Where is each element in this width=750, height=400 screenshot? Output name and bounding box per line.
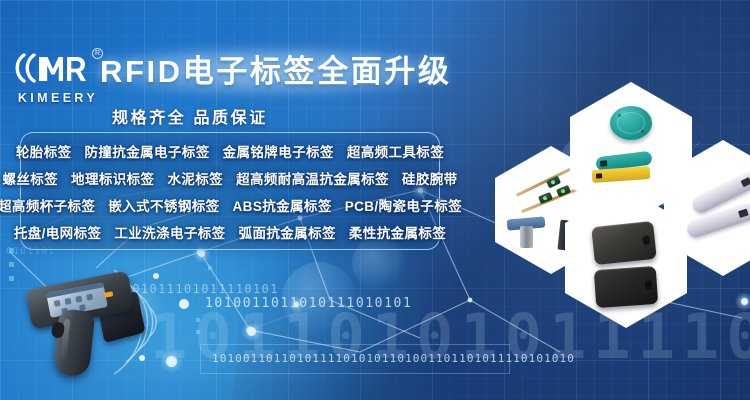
- kimeery-logo[interactable]: R KIMEERY: [12, 48, 104, 110]
- product-tag[interactable]: 硅胶腕带: [402, 168, 458, 188]
- product-tag[interactable]: 金属铭牌电子标签: [223, 141, 334, 161]
- glow-node: [741, 298, 748, 305]
- product-list-panel: 轮胎标签 防撞抗金属电子标签 金属铭牌电子标签 超高频工具标签 螺丝标签 地理标…: [20, 132, 440, 250]
- product-tag[interactable]: 托盘/电网标签: [14, 222, 102, 242]
- product-list-row: 轮胎标签 防撞抗金属电子标签 金属铭牌电子标签 超高频工具标签: [27, 137, 433, 164]
- product-tag[interactable]: PCB/陶瓷电子标签: [345, 195, 462, 215]
- product-tag[interactable]: 水泥标签: [167, 168, 223, 188]
- page-subtitle: 规格齐全 品质保证: [112, 104, 268, 128]
- product-tag[interactable]: 螺丝标签: [2, 168, 58, 188]
- product-tag[interactable]: 超高频工具标签: [347, 141, 444, 161]
- glow-node: [247, 327, 256, 336]
- product-tag[interactable]: 工业洗涤电子标签: [114, 222, 225, 242]
- glow-node: [198, 250, 205, 257]
- accent-square: [196, 318, 200, 322]
- product-tag[interactable]: 地理标识标签: [71, 168, 154, 188]
- product-list-row: 超高频杯子标签 嵌入式不锈钢标签 ABS抗金属标签 PCB/陶瓷电子标签: [27, 191, 433, 218]
- product-list-row: 螺丝标签 地理标识标签 水泥标签 超高频耐高温抗金属标签 硅胶腕带: [27, 164, 433, 191]
- product-list-row: 托盘/电网标签 工业洗涤电子标签 弧面抗金属标签 柔性抗金属标签: [27, 218, 433, 245]
- rfid-promo-banner: 1011010101111010 1010011011010111010101 …: [0, 0, 750, 400]
- logo-wordmark: KIMEERY: [12, 91, 104, 105]
- glow-node: [166, 356, 177, 367]
- binary-text-medium: 1010011011010111010101: [205, 296, 412, 311]
- product-tag[interactable]: 防撞抗金属电子标签: [85, 141, 210, 161]
- accent-square: [208, 266, 212, 270]
- binary-frame-box: [200, 344, 510, 374]
- product-tag[interactable]: 嵌入式不锈钢标签: [108, 195, 219, 215]
- bokeh-circle: [282, 262, 356, 336]
- product-tag[interactable]: 轮胎标签: [16, 141, 72, 161]
- handheld-rfid-reader-device[interactable]: [26, 274, 156, 386]
- glow-node: [294, 302, 299, 307]
- page-title: RFID电子标签全面升级: [100, 52, 445, 92]
- product-tag[interactable]: 柔性抗金属标签: [349, 222, 446, 242]
- product-tag[interactable]: 弧面抗金属标签: [239, 222, 336, 242]
- product-tag[interactable]: 超高频耐高温抗金属标签: [236, 168, 389, 188]
- product-tag[interactable]: ABS抗金属标签: [233, 195, 332, 215]
- reader-pistol-grip: [53, 308, 96, 377]
- accent-square: [9, 276, 14, 281]
- accent-square: [9, 248, 14, 253]
- product-tag[interactable]: 超高频杯子标签: [0, 195, 95, 215]
- accent-square: [9, 262, 14, 267]
- kmr-logo-icon: R: [12, 48, 104, 88]
- accent-square: [196, 330, 200, 334]
